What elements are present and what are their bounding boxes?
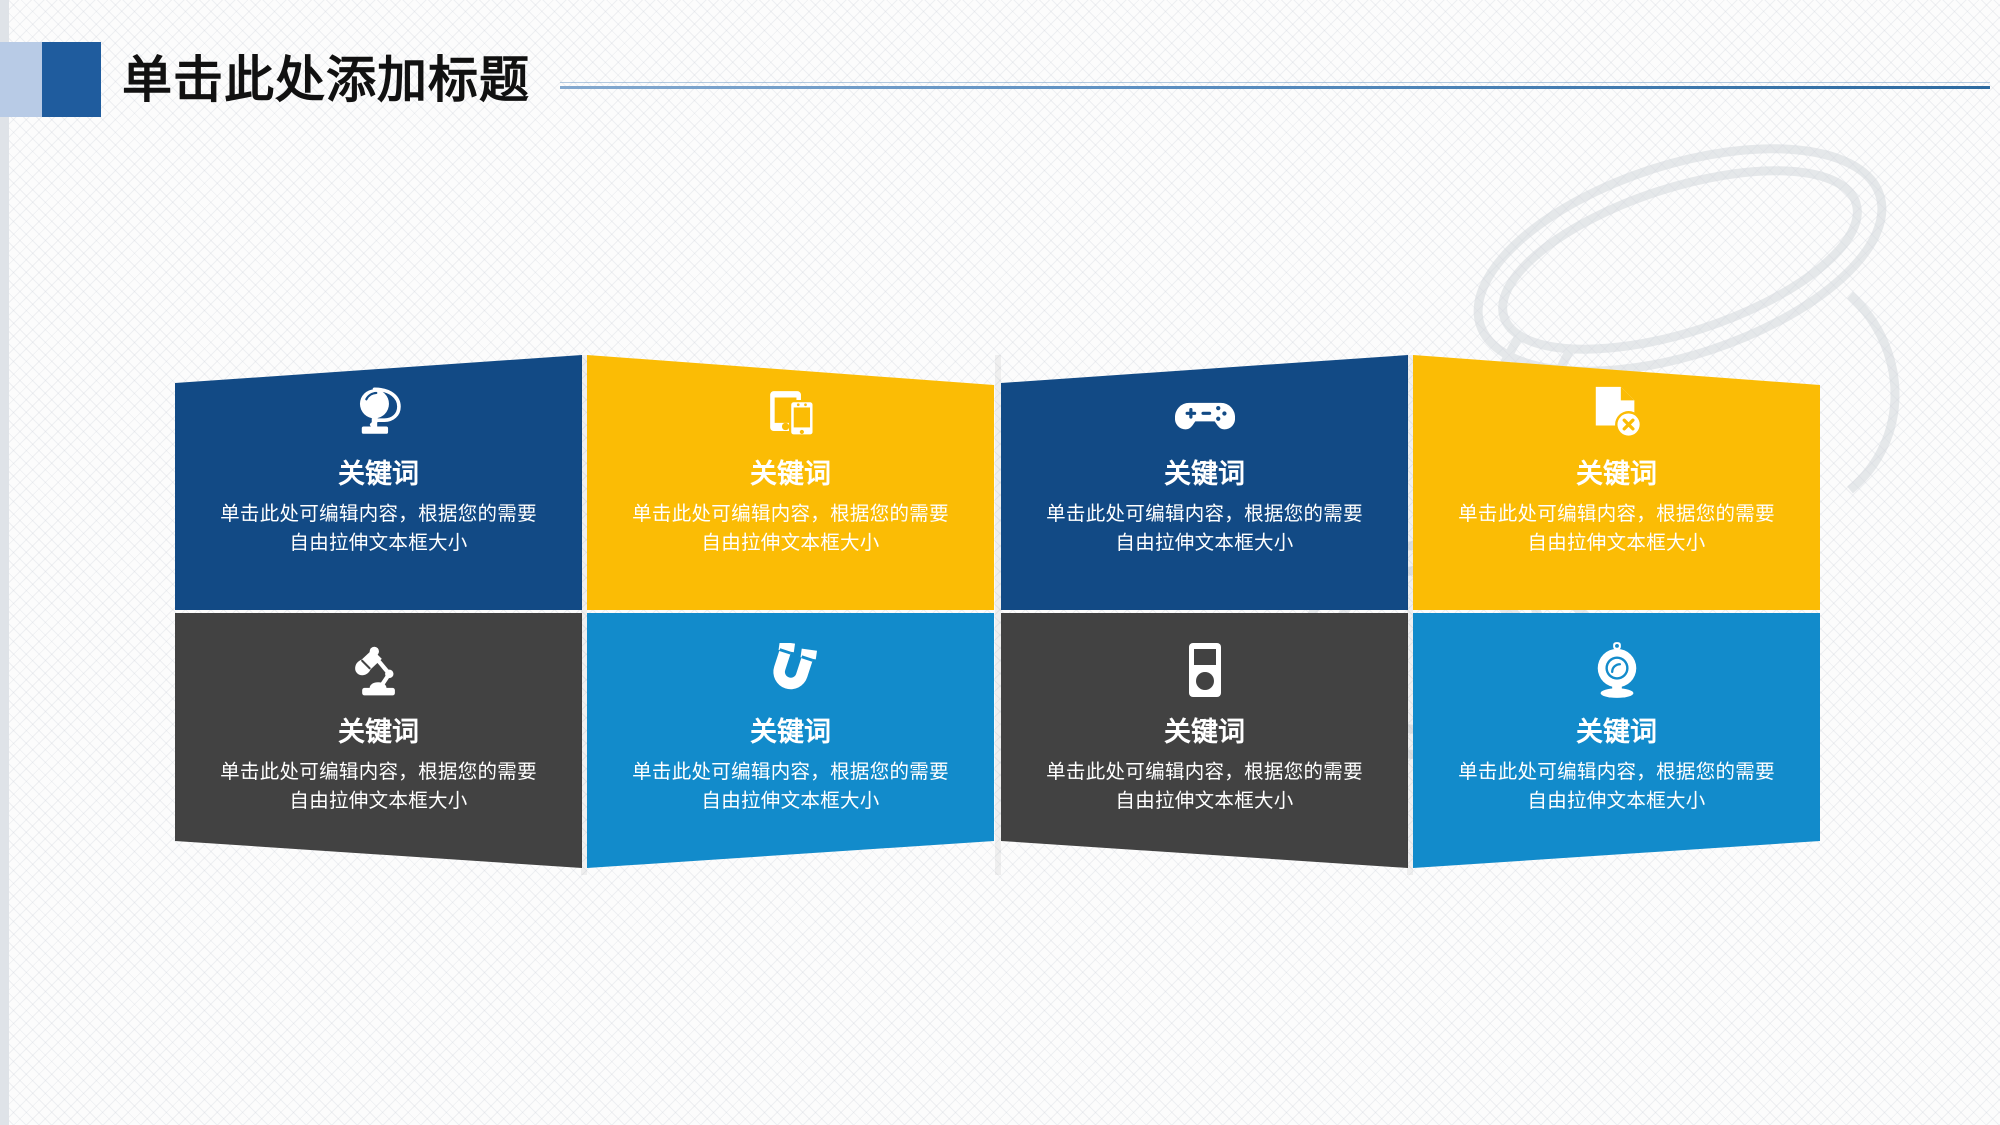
card-description: 单击此处可编辑内容，根据您的需要自由拉伸文本框大小 <box>175 500 582 559</box>
card-description: 单击此处可编辑内容，根据您的需要自由拉伸文本框大小 <box>1413 758 1820 817</box>
card-webcam[interactable]: 关键词 单击此处可编辑内容，根据您的需要自由拉伸文本框大小 <box>1413 613 1820 868</box>
card-keyword: 关键词 <box>1001 461 1408 488</box>
card-gamepad[interactable]: 关键词 单击此处可编辑内容，根据您的需要自由拉伸文本框大小 <box>1001 355 1408 610</box>
slide-header: 单击此处添加标题 <box>0 0 2000 130</box>
card-description: 单击此处可编辑内容，根据您的需要自由拉伸文本框大小 <box>1413 500 1820 559</box>
gamepad-icon <box>1001 355 1408 441</box>
tablet-phone-icon <box>587 355 994 441</box>
card-keyword: 关键词 <box>1413 719 1820 746</box>
title-accent-block-dark <box>42 42 101 117</box>
card-media-player[interactable]: 关键词 单击此处可编辑内容，根据您的需要自由拉伸文本框大小 <box>1001 613 1408 868</box>
webcam-icon <box>1413 613 1820 699</box>
globe-stand-icon <box>175 355 582 441</box>
card-description: 单击此处可编辑内容，根据您的需要自由拉伸文本框大小 <box>175 758 582 817</box>
left-edge-strip <box>0 0 9 1125</box>
file-delete-icon <box>1413 355 1820 441</box>
keyword-card-grid: 关键词 单击此处可编辑内容，根据您的需要自由拉伸文本框大小 <box>175 355 1835 875</box>
page-title: 单击此处添加标题 <box>122 40 530 112</box>
title-rule <box>560 86 1990 89</box>
card-description: 单击此处可编辑内容，根据您的需要自由拉伸文本框大小 <box>1001 500 1408 559</box>
card-magnet[interactable]: 关键词 单击此处可编辑内容，根据您的需要自由拉伸文本框大小 <box>587 613 994 868</box>
media-player-icon <box>1001 613 1408 699</box>
card-keyword: 关键词 <box>587 719 994 746</box>
card-keyword: 关键词 <box>175 719 582 746</box>
card-keyword: 关键词 <box>1413 461 1820 488</box>
card-globe-stand[interactable]: 关键词 单击此处可编辑内容，根据您的需要自由拉伸文本框大小 <box>175 355 582 610</box>
card-keyword: 关键词 <box>587 461 994 488</box>
card-file-delete[interactable]: 关键词 单击此处可编辑内容，根据您的需要自由拉伸文本框大小 <box>1413 355 1820 610</box>
card-description: 单击此处可编辑内容，根据您的需要自由拉伸文本框大小 <box>587 758 994 817</box>
magnet-icon <box>587 613 994 699</box>
card-keyword: 关键词 <box>1001 719 1408 746</box>
card-desk-lamp[interactable]: 关键词 单击此处可编辑内容，根据您的需要自由拉伸文本框大小 <box>175 613 582 868</box>
card-keyword: 关键词 <box>175 461 582 488</box>
title-rule-thin <box>560 82 1990 83</box>
card-description: 单击此处可编辑内容，根据您的需要自由拉伸文本框大小 <box>587 500 994 559</box>
column-divider <box>995 355 1001 875</box>
column-divider <box>1407 355 1413 875</box>
column-divider <box>581 355 587 875</box>
title-accent-block-light <box>0 42 42 117</box>
card-tablet-phone[interactable]: 关键词 单击此处可编辑内容，根据您的需要自由拉伸文本框大小 <box>587 355 994 610</box>
desk-lamp-icon <box>175 613 582 699</box>
card-description: 单击此处可编辑内容，根据您的需要自由拉伸文本框大小 <box>1001 758 1408 817</box>
